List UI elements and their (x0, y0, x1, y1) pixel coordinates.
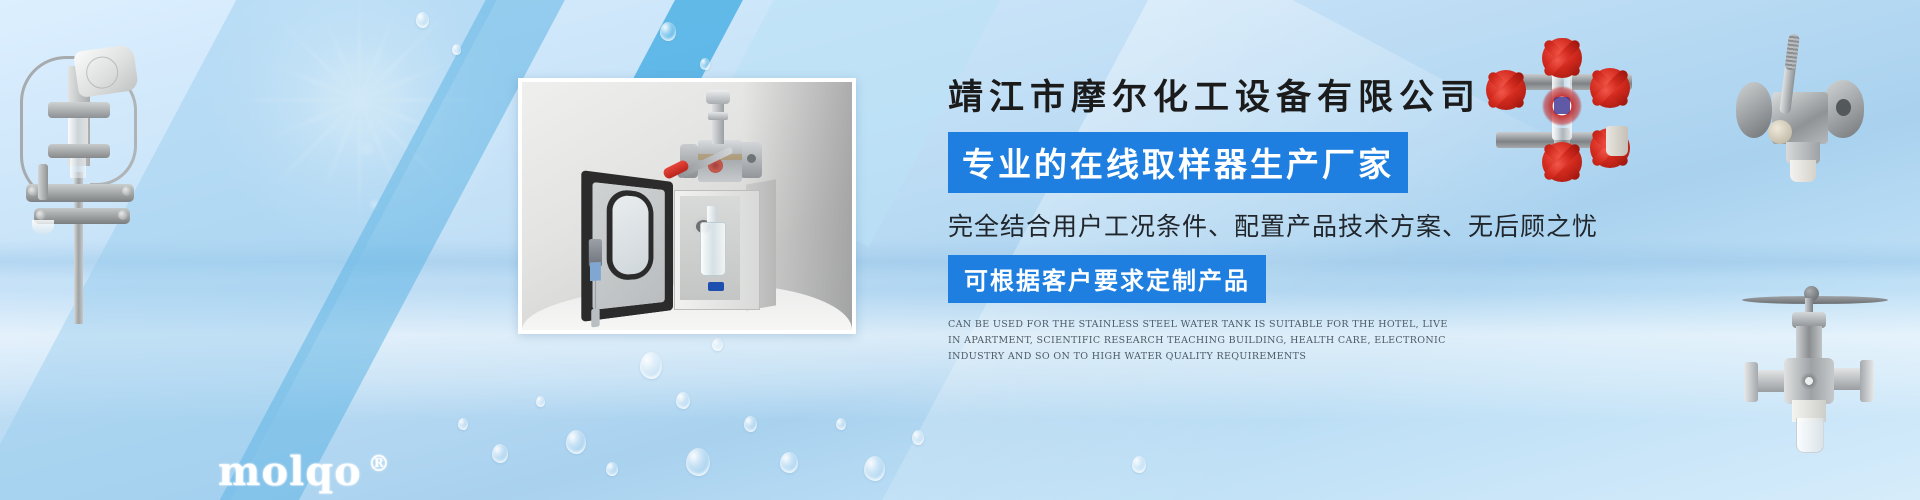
callout-badge: 可根据客户要求定制产品 (948, 255, 1266, 303)
valve-flange-right (1822, 80, 1864, 138)
valve-flange-left (1744, 362, 1758, 402)
sample-cup (32, 220, 54, 234)
sun-ray (270, 11, 449, 190)
bolt-icon (28, 186, 38, 196)
water-droplet-icon (912, 430, 924, 445)
brand-watermark: molqo® (218, 448, 391, 495)
bolt-icon (122, 186, 132, 196)
sample-cup (1790, 160, 1816, 182)
water-droplet-icon (606, 462, 618, 476)
valve-hub-logo-icon (1768, 120, 1792, 144)
sun-glow (210, 0, 510, 250)
water-droplet-icon (452, 44, 461, 55)
sparkle-icon (358, 140, 376, 158)
water-droplet-icon (686, 448, 710, 476)
water-droplet-icon (712, 338, 723, 351)
valve-logo-icon (1800, 372, 1818, 390)
bolt-icon (36, 210, 46, 220)
valve-stem (712, 104, 724, 144)
sun-ray (235, 99, 485, 102)
water-droplet-icon (744, 416, 757, 432)
sample-bottle (700, 222, 726, 276)
water-droplet-icon (660, 22, 676, 41)
water-droplet-icon (492, 444, 508, 463)
water-droplet-icon (416, 12, 429, 28)
sun-ray (323, 11, 398, 189)
enclosure-door (581, 170, 673, 322)
water-droplet-icon (780, 452, 798, 473)
water-droplet-icon (676, 392, 690, 409)
watermark-text: molqo (218, 448, 362, 495)
left-product-image (4, 24, 154, 324)
water-droplet-icon (864, 456, 885, 481)
english-description: CAN BE USED FOR THE STAINLESS STEEL WATE… (948, 317, 1448, 364)
sun-ray (271, 63, 449, 138)
valve-flange-right (740, 142, 762, 178)
sunburst-icon (170, 0, 550, 290)
water-droplet-icon (458, 418, 468, 430)
sun-ray (272, 61, 448, 139)
water-droplet-icon (1132, 456, 1146, 473)
water-droplet-icon (836, 418, 846, 430)
right-product-flanged-valve (1740, 280, 1890, 460)
water-droplet-icon (700, 58, 710, 70)
red-handwheel-icon (1542, 38, 1582, 78)
relief-valve (38, 164, 48, 200)
valve-block (48, 144, 110, 158)
water-droplet-icon (640, 352, 662, 379)
headline-badge: 专业的在线取样器生产厂家 (948, 132, 1408, 193)
sparkle-icon (368, 198, 381, 211)
promo-banner: 靖江市摩尔化工设备有限公司 专业的在线取样器生产厂家 完全结合用户工况条件、配置… (0, 0, 1920, 500)
key-chain (595, 281, 596, 311)
bolt-icon (118, 210, 128, 220)
valve-knob (706, 90, 730, 104)
bottle-cap (708, 282, 724, 291)
door-key (591, 308, 599, 328)
door-window (612, 194, 648, 275)
door-latch-tag (590, 262, 601, 281)
photo-background (522, 82, 852, 330)
sun-ray (321, 12, 399, 188)
valve-neck (1796, 326, 1822, 362)
valve-flange-left (1736, 82, 1772, 138)
sun-ray (270, 11, 449, 190)
valve-block (48, 102, 110, 118)
registered-trademark-icon: ® (368, 451, 391, 477)
sample-cup (1796, 418, 1824, 453)
controller-housing (73, 44, 139, 98)
valve-nut (708, 112, 728, 120)
water-droplet-icon (536, 396, 545, 407)
company-name: 靖江市摩尔化工设备有限公司 (948, 78, 1668, 118)
water-droplet-icon (566, 430, 586, 454)
right-product-lever-valve (1726, 32, 1886, 182)
sub-headline: 完全结合用户工况条件、配置产品技术方案、无后顾之忧 (948, 207, 1668, 243)
center-product-photo (518, 78, 856, 334)
banner-copy: 靖江市摩尔化工设备有限公司 专业的在线取样器生产厂家 完全结合用户工况条件、配置… (948, 78, 1668, 364)
sun-ray (358, 0, 361, 225)
valve-flange-right (1860, 360, 1874, 402)
